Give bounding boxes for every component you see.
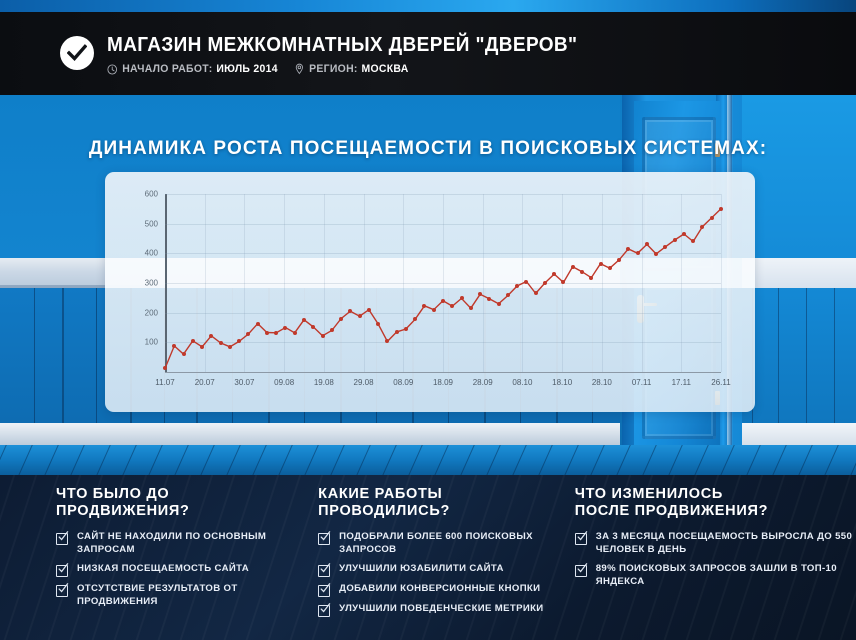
x-axis-tick-label: 18.09: [433, 378, 453, 387]
chart-data-point: [580, 270, 584, 274]
wainscot-seam: [34, 288, 35, 423]
checklist: САЙТ НЕ НАХОДИЛИ ПО ОСНОВНЫМ ЗАПРОСАМНИЗ…: [56, 531, 310, 608]
chart-data-point: [691, 239, 695, 243]
chart-data-point: [311, 325, 315, 329]
x-axis-tick-label: 18.10: [552, 378, 572, 387]
x-axis-tick-label: 11.07: [155, 378, 174, 387]
chart-data-point: [682, 232, 686, 236]
chart-plot-area: 10020030040050060011.0720.0730.0709.0819…: [165, 194, 721, 372]
list-item: УЛУЧШИЛИ ЮЗАБИЛИТИ САЙТА: [318, 563, 559, 576]
list-item-text: ДОБАВИЛИ КОНВЕРСИОННЫЕ КНОПКИ: [339, 583, 540, 596]
list-item-text: УЛУЧШИЛИ ЮЗАБИЛИТИ САЙТА: [339, 563, 504, 576]
checkbox-checked-icon: [318, 564, 330, 576]
floor-seam: [326, 445, 351, 475]
chart-data-point: [561, 280, 565, 284]
check-circle-icon: [60, 36, 94, 70]
floor-seam: [248, 445, 273, 475]
floor-seam: [378, 445, 403, 475]
list-item-text: НИЗКАЯ ПОСЕЩАЕМОСТЬ САЙТА: [77, 563, 249, 576]
chart-data-point: [552, 272, 556, 276]
y-axis-tick-label: 600: [145, 190, 158, 199]
floor-seam: [482, 445, 507, 475]
list-item-text: ЗА 3 МЕСЯЦА ПОСЕЩАЕМОСТЬ ВЫРОСЛА ДО 550 …: [596, 531, 856, 556]
chart-data-point: [524, 280, 528, 284]
chart-data-point: [719, 207, 723, 211]
x-gridline: [721, 194, 722, 372]
chart-series-line: [165, 194, 721, 372]
chart-data-point: [506, 293, 510, 297]
chart-data-point: [673, 238, 677, 242]
x-axis-tick-label: 08.09: [393, 378, 413, 387]
list-item: САЙТ НЕ НАХОДИЛИ ПО ОСНОВНЫМ ЗАПРОСАМ: [56, 531, 310, 556]
chart-data-point: [302, 318, 306, 322]
bottom-section: ЧТО БЫЛО ДОПРОДВИЖЕНИЯ?САЙТ НЕ НАХОДИЛИ …: [0, 475, 856, 640]
chart-data-point: [376, 322, 380, 326]
checklist: ПОДОБРАЛИ БОЛЕЕ 600 ПОИСКОВЫХ ЗАПРОСОВУЛ…: [318, 531, 559, 616]
infographic-page: МАГАЗИН МЕЖКОМНАТНЫХ ДВЕРЕЙ "ДВЕРОВ" НАЧ…: [0, 0, 856, 640]
chart-data-point: [571, 265, 575, 269]
chart-data-point: [460, 296, 464, 300]
x-axis-tick-label: 07.11: [632, 378, 651, 387]
chart-data-point: [469, 306, 473, 310]
x-axis-tick-label: 29.08: [354, 378, 374, 387]
floor-seam: [638, 445, 663, 475]
chart-data-point: [432, 308, 436, 312]
chart-data-point: [543, 281, 547, 285]
list-item: ОТСУТСТВИЕ РЕЗУЛЬТАТОВ ОТ ПРОДВИЖЕНИЯ: [56, 583, 310, 608]
floor-seam: [534, 445, 559, 475]
floor-seam: [508, 445, 533, 475]
x-axis-tick-label: 19.08: [314, 378, 334, 387]
checkbox-checked-icon: [56, 564, 68, 576]
checkbox-checked-icon: [575, 532, 587, 544]
region-value: МОСКВА: [361, 63, 408, 75]
chart-data-point: [636, 251, 640, 255]
chart-data-point: [710, 216, 714, 220]
checklist: ЗА 3 МЕСЯЦА ПОСЕЩАЕМОСТЬ ВЫРОСЛА ДО 550 …: [575, 531, 856, 588]
list-item: ПОДОБРАЛИ БОЛЕЕ 600 ПОИСКОВЫХ ЗАПРОСОВ: [318, 531, 559, 556]
chart-data-point: [163, 366, 167, 370]
chart-data-point: [339, 317, 343, 321]
region-label: РЕГИОН:: [309, 63, 358, 75]
list-item-text: 89% ПОИСКОВЫХ ЗАПРОСОВ ЗАШЛИ В ТОП-10 ЯН…: [596, 563, 856, 588]
start-date-value: ИЮЛЬ 2014: [216, 63, 277, 75]
chart-data-point: [608, 266, 612, 270]
y-axis-tick-label: 300: [145, 279, 158, 288]
bottom-column-1: ЧТО БЫЛО ДОПРОДВИЖЕНИЯ?САЙТ НЕ НАХОДИЛИ …: [0, 475, 310, 640]
chart-data-point: [209, 334, 213, 338]
floor-seam: [404, 445, 429, 475]
column-heading: ЧТО ИЗМЕНИЛОСЬПОСЛЕ ПРОДВИЖЕНИЯ?: [575, 486, 856, 520]
floor-seam: [664, 445, 689, 475]
bottom-column-2: КАКИЕ РАБОТЫПРОВОДИЛИСЬ?ПОДОБРАЛИ БОЛЕЕ …: [310, 475, 559, 640]
floor-seam: [196, 445, 221, 475]
chart-data-point: [626, 247, 630, 251]
chart-data-point: [599, 262, 603, 266]
clock-icon: [107, 64, 117, 75]
checkbox-checked-icon: [575, 564, 587, 576]
chart-data-point: [645, 242, 649, 246]
column-heading: ЧТО БЫЛО ДОПРОДВИЖЕНИЯ?: [56, 486, 310, 520]
floor-seam: [430, 445, 455, 475]
chart-data-point: [358, 314, 362, 318]
floor-seam: [742, 445, 767, 475]
floor-seam: [274, 445, 299, 475]
chart-data-point: [441, 299, 445, 303]
chart-data-point: [663, 245, 667, 249]
checkbox-checked-icon: [56, 532, 68, 544]
list-item: ЗА 3 МЕСЯЦА ПОСЕЩАЕМОСТЬ ВЫРОСЛА ДО 550 …: [575, 531, 856, 556]
x-axis-tick-label: 17.11: [672, 378, 691, 387]
floor-seam: [118, 445, 143, 475]
floor: [0, 445, 856, 475]
list-item: ДОБАВИЛИ КОНВЕРСИОННЫЕ КНОПКИ: [318, 583, 559, 596]
wainscot-seam: [96, 288, 97, 423]
right-wall-baseboard: [734, 423, 856, 445]
floor-seam: [300, 445, 325, 475]
floor-seam: [14, 445, 39, 475]
floor-seam: [456, 445, 481, 475]
list-item-text: ПОДОБРАЛИ БОЛЕЕ 600 ПОИСКОВЫХ ЗАПРОСОВ: [339, 531, 559, 556]
list-item: УЛУЧШИЛИ ПОВЕДЕНЧЕСКИЕ МЕТРИКИ: [318, 603, 559, 616]
chart-title: ДИНАМИКА РОСТА ПОСЕЩАЕМОСТИ В ПОИСКОВЫХ …: [0, 138, 856, 160]
floor-seam: [40, 445, 65, 475]
floor-seam: [690, 445, 715, 475]
chart-data-point: [413, 317, 417, 321]
chart-data-point: [172, 344, 176, 348]
floor-seam: [170, 445, 195, 475]
chart-data-point: [228, 345, 232, 349]
chart-data-point: [246, 332, 250, 336]
chart-card: 10020030040050060011.0720.0730.0709.0819…: [105, 172, 755, 412]
floor-seam: [768, 445, 793, 475]
chart-data-point: [450, 304, 454, 308]
x-axis-tick-label: 26.11: [711, 378, 730, 387]
floor-seam: [92, 445, 117, 475]
chart-data-point: [256, 322, 260, 326]
floor-seam: [586, 445, 611, 475]
chart-data-point: [182, 352, 186, 356]
floor-seam: [794, 445, 819, 475]
chart-data-point: [200, 345, 204, 349]
y-axis-tick-label: 100: [145, 338, 158, 347]
x-axis: [165, 372, 721, 373]
baseboard: [0, 423, 620, 445]
y-axis-tick-label: 500: [145, 219, 158, 228]
chart-data-point: [395, 330, 399, 334]
y-axis-tick-label: 200: [145, 308, 158, 317]
chart-data-point: [515, 284, 519, 288]
list-item-text: УЛУЧШИЛИ ПОВЕДЕНЧЕСКИЕ МЕТРИКИ: [339, 603, 543, 616]
checkbox-checked-icon: [318, 584, 330, 596]
floor-seam: [222, 445, 247, 475]
floor-seam: [846, 445, 856, 475]
x-axis-tick-label: 20.07: [195, 378, 215, 387]
list-item-text: ОТСУТСТВИЕ РЕЗУЛЬТАТОВ ОТ ПРОДВИЖЕНИЯ: [77, 583, 310, 608]
floor-seam: [716, 445, 741, 475]
header-meta: НАЧАЛО РАБОТ: ИЮЛЬ 2014 РЕГИОН: МОСКВА: [107, 63, 577, 75]
chart-data-point: [589, 276, 593, 280]
chart-data-point: [283, 326, 287, 330]
chart-data-point: [700, 225, 704, 229]
chart-data-point: [478, 292, 482, 296]
floor-seam: [0, 445, 13, 475]
floor-seam: [352, 445, 377, 475]
floor-seam: [820, 445, 845, 475]
bottom-columns: ЧТО БЫЛО ДОПРОДВИЖЕНИЯ?САЙТ НЕ НАХОДИЛИ …: [0, 475, 856, 640]
chart-data-point: [265, 331, 269, 335]
page-title: МАГАЗИН МЕЖКОМНАТНЫХ ДВЕРЕЙ "ДВЕРОВ": [107, 34, 577, 56]
chart-data-point: [385, 339, 389, 343]
chart-data-point: [274, 331, 278, 335]
floor-seam: [560, 445, 585, 475]
checkbox-checked-icon: [56, 584, 68, 596]
chart-data-point: [237, 339, 241, 343]
chart-data-point: [617, 258, 621, 262]
chart-data-point: [293, 331, 297, 335]
chart-data-point: [404, 327, 408, 331]
list-item: 89% ПОИСКОВЫХ ЗАПРОСОВ ЗАШЛИ В ТОП-10 ЯН…: [575, 563, 856, 588]
checkbox-checked-icon: [318, 532, 330, 544]
floor-seam: [144, 445, 169, 475]
x-axis-tick-label: 28.10: [592, 378, 612, 387]
chart-data-point: [534, 291, 538, 295]
chart-data-point: [219, 341, 223, 345]
chart-data-point: [422, 304, 426, 308]
chart-data-point: [497, 302, 501, 306]
chart-data-point: [487, 297, 491, 301]
x-axis-tick-label: 09.08: [274, 378, 294, 387]
x-axis-tick-label: 08.10: [512, 378, 532, 387]
location-pin-icon: [294, 63, 304, 75]
floor-seam: [612, 445, 637, 475]
page-header: МАГАЗИН МЕЖКОМНАТНЫХ ДВЕРЕЙ "ДВЕРОВ" НАЧ…: [0, 12, 856, 95]
start-date-label: НАЧАЛО РАБОТ:: [122, 63, 212, 75]
bottom-column-3: ЧТО ИЗМЕНИЛОСЬПОСЛЕ ПРОДВИЖЕНИЯ?ЗА 3 МЕС…: [559, 475, 856, 640]
checkbox-checked-icon: [318, 604, 330, 616]
x-axis-tick-label: 28.09: [473, 378, 493, 387]
floor-seam: [66, 445, 91, 475]
x-axis-tick-label: 30.07: [234, 378, 254, 387]
chart-data-point: [191, 339, 195, 343]
wainscot-seam: [62, 288, 64, 423]
list-item-text: САЙТ НЕ НАХОДИЛИ ПО ОСНОВНЫМ ЗАПРОСАМ: [77, 531, 310, 556]
y-axis-tick-label: 400: [145, 249, 158, 258]
column-heading: КАКИЕ РАБОТЫПРОВОДИЛИСЬ?: [318, 486, 559, 520]
list-item: НИЗКАЯ ПОСЕЩАЕМОСТЬ САЙТА: [56, 563, 310, 576]
chart-data-point: [654, 252, 658, 256]
chart-data-point: [330, 328, 334, 332]
chart-data-point: [348, 309, 352, 313]
chart-data-point: [367, 308, 371, 312]
chart-data-point: [321, 334, 325, 338]
top-gradient-strip: [0, 0, 856, 12]
